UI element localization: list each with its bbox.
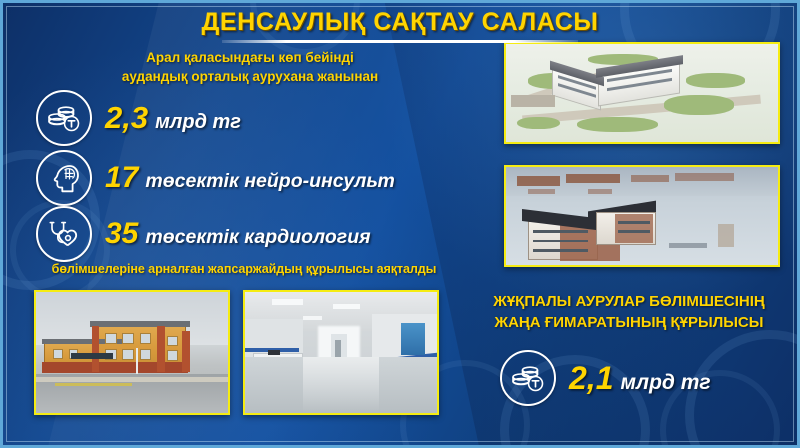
stat-unit: млрд тг bbox=[620, 371, 710, 394]
photo-finished-building bbox=[34, 290, 230, 415]
subheading: Арал қаласындағы көп бейінді аудандық ор… bbox=[70, 48, 430, 86]
page-title: ДЕНСАУЛЫҚ САҚТАУ САЛАСЫ bbox=[201, 8, 598, 37]
photo-aerial-construction bbox=[504, 165, 780, 267]
subheading-line-1: Арал қаласындағы көп бейінді bbox=[70, 48, 430, 67]
photo-interior-corridor bbox=[243, 290, 439, 415]
corridor-scene bbox=[245, 292, 437, 413]
stat-unit: төсектік кардиология bbox=[145, 226, 370, 248]
right-heading-line-1: ЖҰҚПАЛЫ АУРУЛАР БӨЛІМШЕСІНІҢ bbox=[462, 292, 796, 313]
stat-value: 17 bbox=[105, 161, 138, 194]
left-block-caption: бөлімшелеріне арналған жапсаржайдың құры… bbox=[14, 262, 474, 276]
stat-value: 2,1 bbox=[569, 360, 613, 396]
building-scene bbox=[36, 292, 228, 413]
stat-row-cardio: 35төсектік кардиология bbox=[36, 206, 371, 262]
infographic-slide: ДЕНСАУЛЫҚ САҚТАУ САЛАСЫ Арал қаласындағы… bbox=[0, 0, 800, 448]
head-brain-icon bbox=[36, 150, 92, 206]
title-underline bbox=[222, 40, 578, 43]
stat-row-budget: 2,3млрд тг bbox=[36, 90, 241, 146]
coins-tenge-icon bbox=[500, 350, 556, 406]
stethoscope-heart-icon bbox=[36, 206, 92, 262]
coins-tenge-icon bbox=[36, 90, 92, 146]
stat-row-neuro: 17төсектік нейро-инсульт bbox=[36, 150, 395, 206]
stat-text: 2,3млрд тг bbox=[105, 100, 241, 136]
subheading-line-2: аудандық орталық аурухана жанынан bbox=[70, 67, 430, 86]
render-scene bbox=[506, 44, 778, 142]
right-heading-line-2: ЖАҢА ҒИМАРАТЫНЫҢ ҚҰРЫЛЫСЫ bbox=[462, 313, 796, 334]
stat-text: 2,1млрд тг bbox=[569, 360, 711, 397]
aerial-scene bbox=[506, 167, 778, 265]
stat-text: 35төсектік кардиология bbox=[105, 217, 371, 251]
right-block-heading: ЖҰҚПАЛЫ АУРУЛАР БӨЛІМШЕСІНІҢ ЖАҢА ҒИМАРА… bbox=[462, 292, 796, 333]
stat-value: 35 bbox=[105, 217, 138, 250]
stat-value: 2,3 bbox=[105, 100, 148, 135]
stat-row-infectious-budget: 2,1млрд тг bbox=[500, 350, 711, 406]
stat-unit: млрд тг bbox=[155, 111, 241, 133]
stat-unit: төсектік нейро-инсульт bbox=[145, 170, 394, 192]
stat-text: 17төсектік нейро-инсульт bbox=[105, 161, 395, 195]
photo-hospital-render bbox=[504, 42, 780, 144]
page-title-container: ДЕНСАУЛЫҚ САҚТАУ САЛАСЫ bbox=[0, 8, 800, 37]
